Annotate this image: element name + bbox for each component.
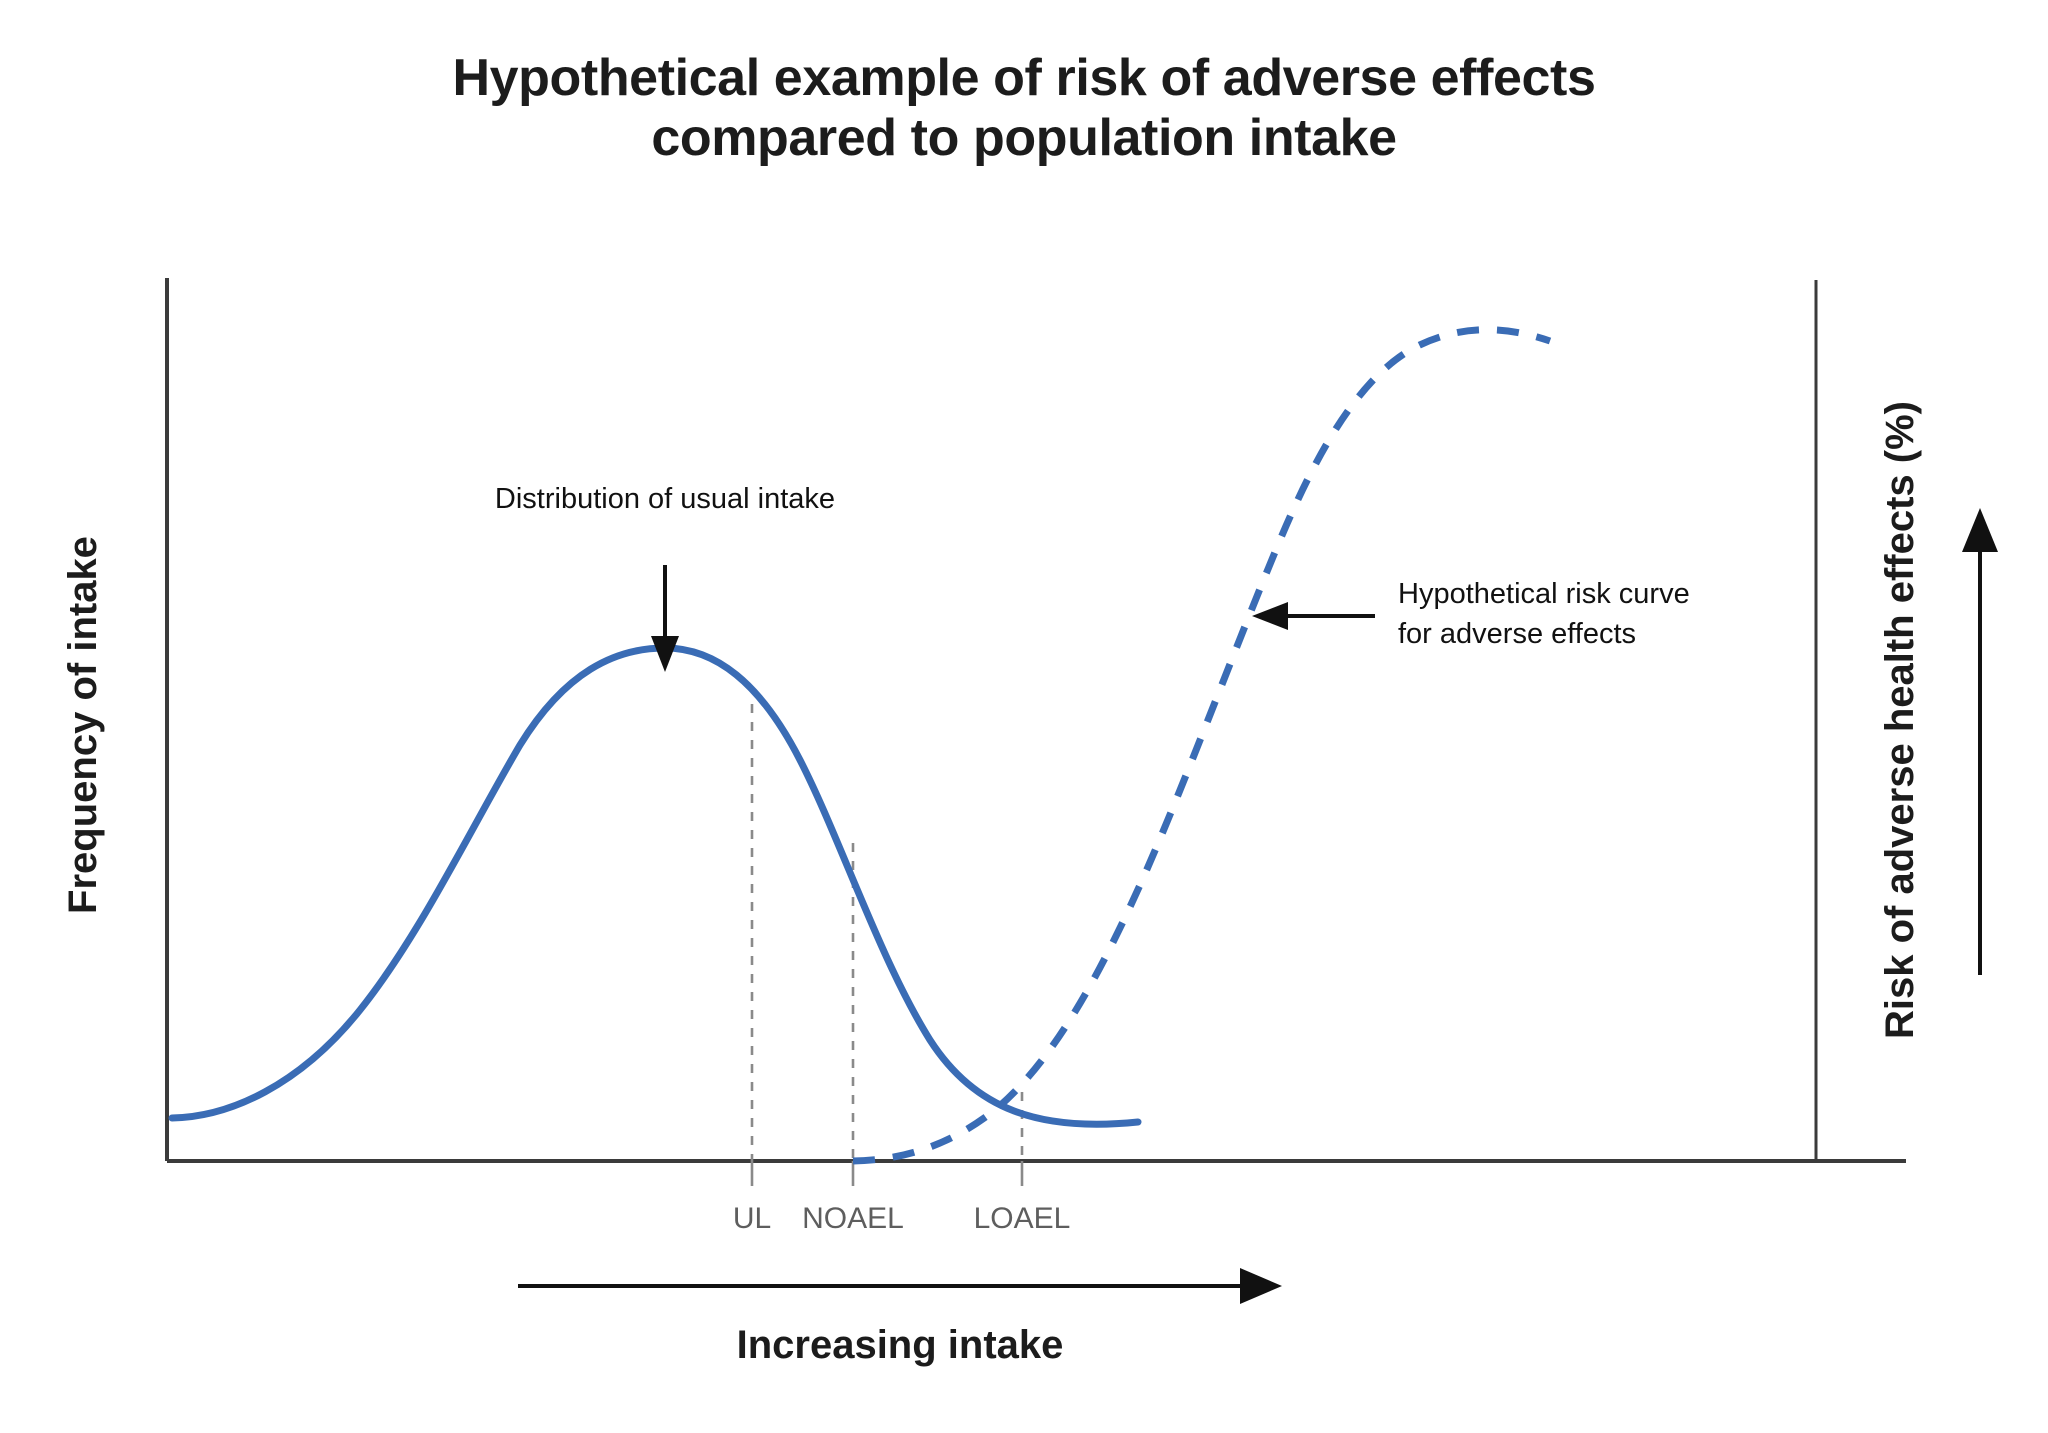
distribution-annotation-arrow-head [651, 636, 679, 672]
tick-label-loael: LOAEL [974, 1202, 1071, 1235]
y-axis-title: Frequency of intake [61, 536, 105, 914]
tick-label-ul: UL [733, 1202, 771, 1235]
y2-axis-title: Risk of adverse health effects (%) [1878, 401, 1922, 1039]
risk-annotation-label-line-2: for adverse effects [1398, 618, 1636, 650]
increasing-intake-arrow-head [1240, 1268, 1282, 1304]
chart-canvas: Distribution of usual intake Hypothetica… [0, 0, 2048, 1433]
tick-label-noael: NOAEL [802, 1202, 904, 1235]
risk-annotation-arrow-head [1252, 602, 1288, 630]
intake-distribution-curve [172, 648, 1138, 1124]
x-axis-title: Increasing intake [737, 1323, 1064, 1367]
risk-annotation-label-line-1: Hypothetical risk curve [1398, 578, 1690, 610]
risk-direction-arrow-head [1962, 508, 1998, 552]
distribution-annotation-label: Distribution of usual intake [495, 483, 835, 515]
chart-figure: Hypothetical example of risk of adverse … [0, 0, 2048, 1433]
risk-curve-dashed [853, 330, 1550, 1161]
